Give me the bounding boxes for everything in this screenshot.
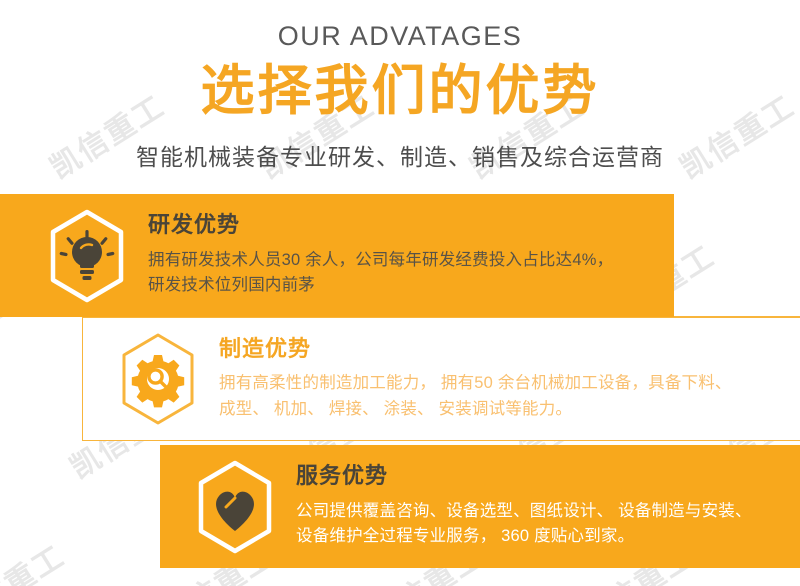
advantage-card-text: 制造优势 拥有高柔性的制造加工能力， 拥有50 余台机械加工设备，具备下料、 成…	[201, 336, 800, 423]
advantage-card-title: 服务优势	[296, 463, 790, 489]
advantages-banner: 凯信重工 凯信重工 凯信重工 凯信重工 凯信重工 凯信重工 凯信重工 凯信重工 …	[0, 0, 800, 586]
advantage-card-rd[interactable]: 研发优势 拥有研发技术人员30 余人，公司每年研发经费投入占比达4%， 研发技术…	[0, 194, 674, 317]
gear-wrench-hexagon-icon	[115, 329, 201, 429]
watermark-text: 凯信重工	[0, 532, 72, 586]
advantage-card-title: 制造优势	[219, 336, 790, 362]
advantage-card-body: 公司提供覆盖咨询、设备选型、图纸设计、 设备制造与安装、 设备维护全过程专业服务…	[296, 499, 790, 550]
advantage-card-service[interactable]: 服务优势 公司提供覆盖咨询、设备选型、图纸设计、 设备制造与安装、 设备维护全过…	[160, 445, 800, 568]
advantage-card-text: 研发优势 拥有研发技术人员30 余人，公司每年研发经费投入占比达4%， 研发技术…	[130, 212, 674, 299]
advantage-card-body: 拥有研发技术人员30 余人，公司每年研发经费投入占比达4%， 研发技术位列国内前…	[148, 248, 664, 299]
advantage-card-manufacturing[interactable]: 制造优势 拥有高柔性的制造加工能力， 拥有50 余台机械加工设备，具备下料、 成…	[82, 317, 800, 441]
heart-hexagon-icon	[192, 457, 278, 557]
lightbulb-hexagon-icon	[44, 206, 130, 306]
header-eyebrow: OUR ADVATAGES	[0, 20, 800, 52]
page-title: 选择我们的优势	[0, 60, 800, 124]
header-subtitle: 智能机械装备专业研发、制造、销售及综合运营商	[0, 138, 800, 172]
banner-header: OUR ADVATAGES 选择我们的优势 智能机械装备专业研发、制造、销售及综…	[0, 0, 800, 172]
advantage-card-title: 研发优势	[148, 212, 664, 238]
advantage-card-text: 服务优势 公司提供覆盖咨询、设备选型、图纸设计、 设备制造与安装、 设备维护全过…	[278, 463, 800, 550]
advantage-card-body: 拥有高柔性的制造加工能力， 拥有50 余台机械加工设备，具备下料、 成型、 机加…	[219, 371, 790, 422]
